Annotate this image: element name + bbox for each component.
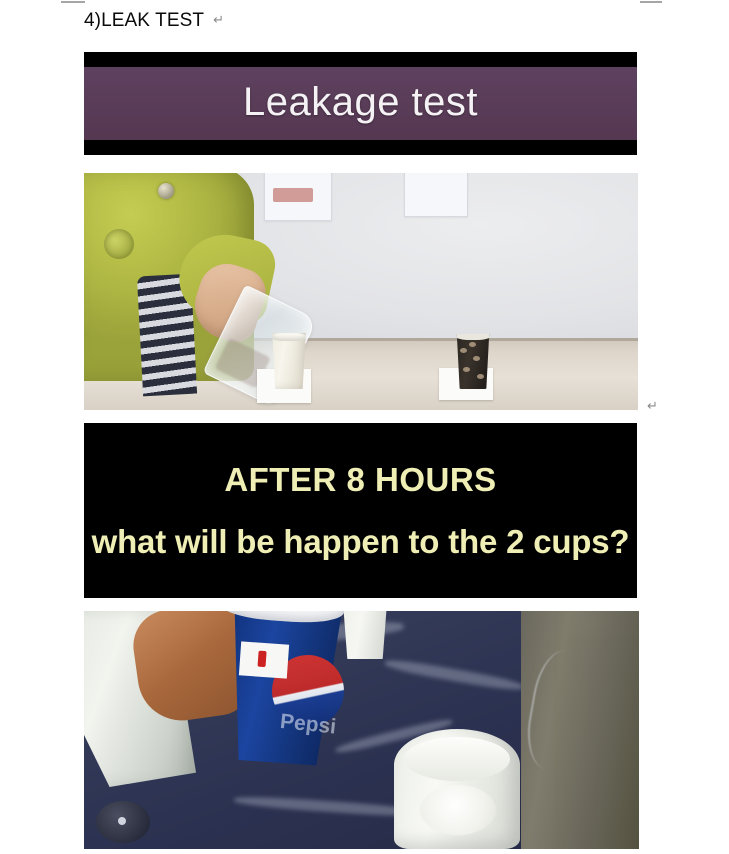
section-heading-text: 4)LEAK TEST xyxy=(84,10,204,31)
floating-paragraph-mark-icon: ↵ xyxy=(647,398,658,414)
cup-pattern-dot xyxy=(473,356,480,361)
cup-sticker-label xyxy=(239,641,289,678)
foreground-white-cup xyxy=(394,729,520,849)
paragraph-mark-icon: ↵ xyxy=(213,12,224,27)
background-white-cup xyxy=(339,611,391,659)
question-card-line2: what will be happen to the 2 cups? xyxy=(92,523,630,561)
cup-interior xyxy=(404,737,510,781)
left-margin-marker xyxy=(61,1,85,3)
white-paper-cup xyxy=(270,333,308,389)
wall-poster-left xyxy=(264,173,332,221)
document-page: 4)LEAK TEST↵ Leakage test Woman in a lim… xyxy=(0,0,729,854)
cup-pattern-dot xyxy=(477,374,484,379)
section-heading: 4)LEAK TEST↵ xyxy=(84,8,224,33)
cup-pattern-dot xyxy=(469,342,476,347)
title-card-band: Leakage test xyxy=(84,67,637,140)
wall-poster-right xyxy=(404,173,468,217)
cup-pattern-dot xyxy=(460,348,467,353)
right-margin-marker xyxy=(640,1,662,3)
pouring-water-into-cups-photo: Woman in a lime green jacket pours water… xyxy=(84,173,638,410)
jacket-brooch xyxy=(158,183,174,199)
cup-liquid xyxy=(420,785,496,835)
leakage-test-title-card: Leakage test xyxy=(84,52,637,155)
cup-pattern-dot xyxy=(463,367,470,372)
after-8-hours-question-card: AFTER 8 HOURS what will be happen to the… xyxy=(84,423,637,598)
wrapped-bag-right xyxy=(521,611,639,849)
patterned-paper-cup xyxy=(455,334,491,389)
dark-disc-object xyxy=(96,801,150,843)
title-card-text: Leakage test xyxy=(243,80,478,125)
pepsi-cup-result-photo: Pepsi A hand lifts a blue Pepsi branded … xyxy=(84,611,639,849)
question-card-line1: AFTER 8 HOURS xyxy=(224,461,496,499)
